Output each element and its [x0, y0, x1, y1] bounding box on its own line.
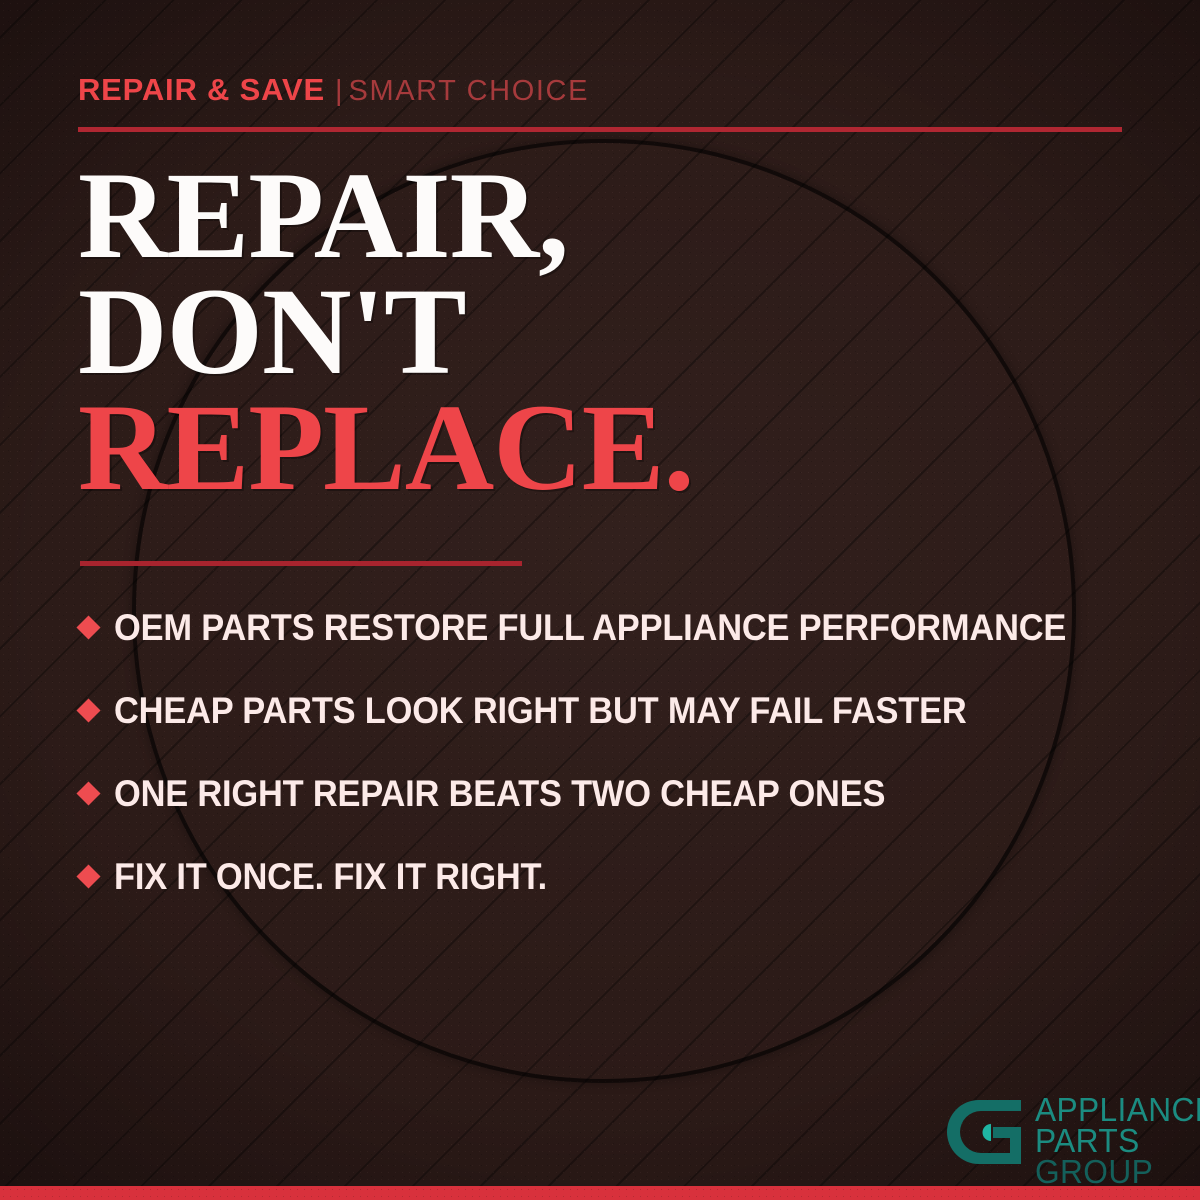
poster-content: REPAIR & SAVE|SMART CHOICE REPAIR, DON'T…: [0, 0, 1200, 1200]
list-item-label: ONE RIGHT REPAIR BEATS TWO CHEAP ONES: [114, 775, 885, 812]
poster-canvas: REPAIR & SAVE|SMART CHOICE REPAIR, DON'T…: [0, 0, 1200, 1200]
brand-logo: APPLIANCE PARTS GROUP: [947, 1093, 1200, 1188]
headline-line-1: REPAIR,: [78, 158, 1138, 274]
brand-logo-wordmark: APPLIANCE PARTS GROUP: [1035, 1093, 1200, 1188]
list-item: ONE RIGHT REPAIR BEATS TWO CHEAP ONES: [80, 752, 1150, 835]
headline-line-2: DON'T: [78, 274, 1138, 390]
page-title: REPAIR, DON'T REPLACE.: [78, 158, 1138, 506]
list-item: CHEAP PARTS LOOK RIGHT BUT MAY FAIL FAST…: [80, 669, 1150, 752]
list-item: OEM PARTS RESTORE FULL APPLIANCE PERFORM…: [80, 586, 1150, 669]
diamond-bullet-icon: [80, 785, 114, 802]
eyebrow-separator: |: [325, 75, 349, 107]
eyebrow-light-text: SMART CHOICE: [349, 75, 590, 107]
eyebrow-kicker: REPAIR & SAVE|SMART CHOICE: [78, 74, 589, 106]
list-item-label: OEM PARTS RESTORE FULL APPLIANCE PERFORM…: [114, 609, 1066, 646]
bottom-accent-bar: [0, 1186, 1200, 1200]
brand-word-group: GROUP: [1035, 1157, 1200, 1188]
diamond-bullet-icon: [80, 702, 114, 719]
header-divider-rule: [78, 127, 1122, 132]
diamond-bullet-icon: [80, 868, 114, 885]
list-item: FIX IT ONCE. FIX IT RIGHT.: [80, 835, 1150, 918]
bottom-bar-texture: [0, 1186, 1200, 1200]
g-monogram-icon: [947, 1093, 1025, 1171]
list-item-label: CHEAP PARTS LOOK RIGHT BUT MAY FAIL FAST…: [114, 692, 967, 729]
list-item-label: FIX IT ONCE. FIX IT RIGHT.: [114, 858, 547, 895]
benefit-list: OEM PARTS RESTORE FULL APPLIANCE PERFORM…: [80, 586, 1150, 918]
diamond-bullet-icon: [80, 619, 114, 636]
headline-line-3: REPLACE.: [78, 390, 1138, 506]
eyebrow-strong-text: REPAIR & SAVE: [78, 72, 325, 107]
section-divider-rule: [80, 561, 522, 566]
